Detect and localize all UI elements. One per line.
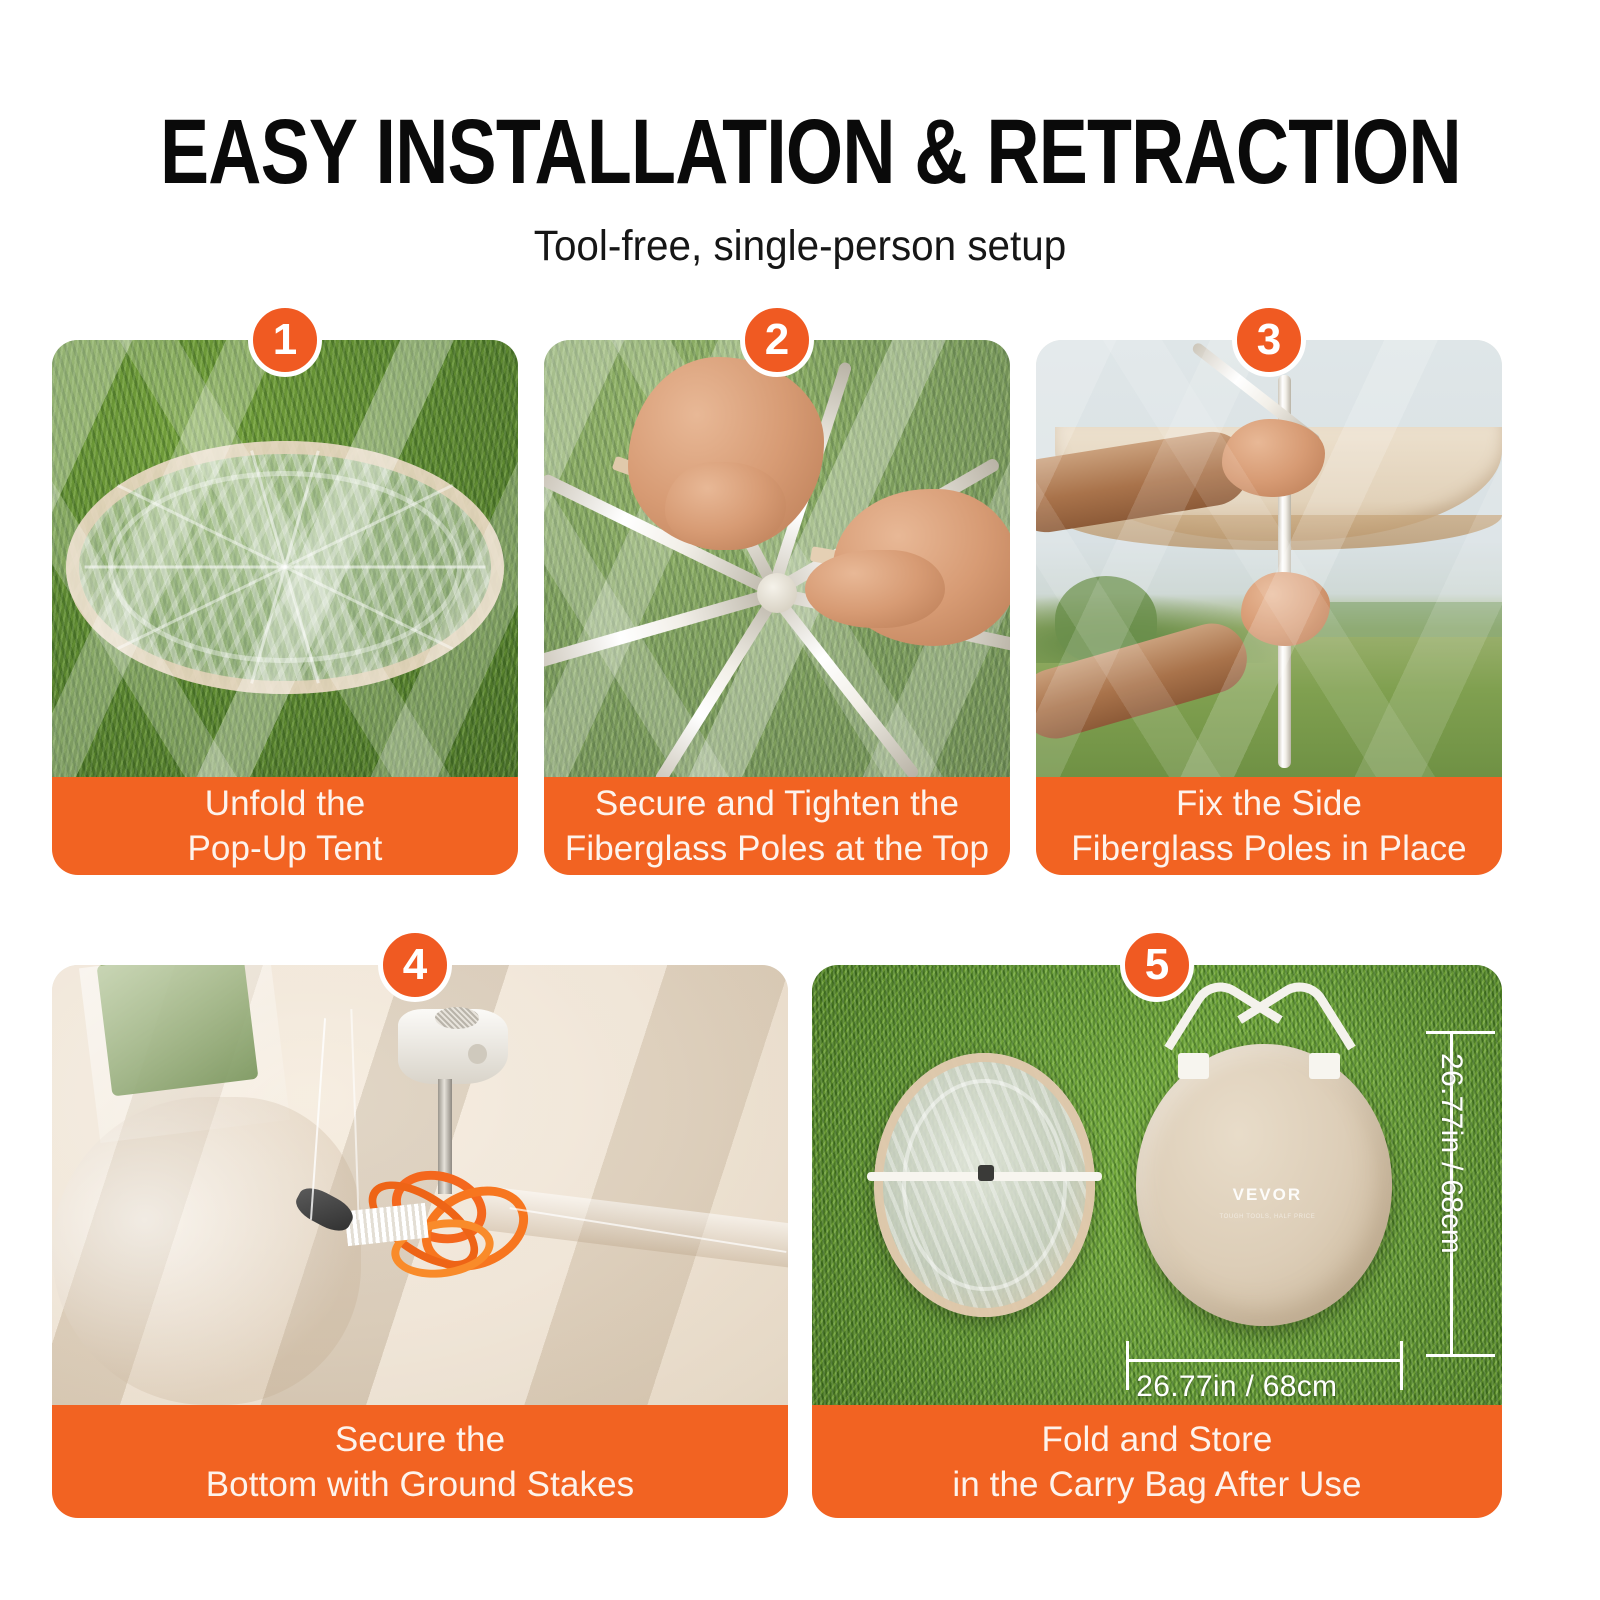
step-3-caption: Fix the Side Fiberglass Poles in Place <box>1036 777 1502 875</box>
step-2-photo <box>544 340 1010 777</box>
dimension-height-label: 26.77in / 68cm <box>1434 1053 1468 1254</box>
step-badge-4-number: 4 <box>403 943 427 987</box>
step-2-caption-line2: Fiberglass Poles at the Top <box>565 826 989 871</box>
header: EASY INSTALLATION & RETRACTION Tool-free… <box>0 0 1600 270</box>
step-badge-2: 2 <box>740 303 814 377</box>
step-3-caption-line1: Fix the Side <box>1176 781 1362 826</box>
step-card-1[interactable]: Unfold the Pop-Up Tent <box>52 340 518 875</box>
step-card-5[interactable]: VEVOR TOUGH TOOLS, HALF PRICE 26.77in / … <box>812 965 1502 1518</box>
step-4-caption-line2: Bottom with Ground Stakes <box>206 1462 635 1507</box>
dimension-width-label: 26.77in / 68cm <box>1136 1370 1337 1404</box>
dimension-cap-top <box>1426 1031 1495 1034</box>
step-4-caption-line1: Secure the <box>335 1417 505 1462</box>
step-badge-3-number: 3 <box>1257 318 1281 362</box>
dimension-cap-bottom <box>1426 1354 1495 1357</box>
step-badge-2-number: 2 <box>765 318 789 362</box>
step-badge-3: 3 <box>1232 303 1306 377</box>
step-5-caption: Fold and Store in the Carry Bag After Us… <box>812 1405 1502 1518</box>
vevor-tagline: TOUGH TOOLS, HALF PRICE <box>1192 1214 1344 1220</box>
step-4-caption: Secure the Bottom with Ground Stakes <box>52 1405 788 1518</box>
step-1-caption-line1: Unfold the <box>205 781 366 826</box>
page-title: EASY INSTALLATION & RETRACTION <box>160 104 1440 200</box>
vevor-logo: VEVOR <box>1192 1185 1344 1205</box>
step-1-photo <box>52 340 518 777</box>
step-5-caption-line1: Fold and Store <box>1042 1417 1273 1462</box>
dimension-cap-right <box>1400 1341 1403 1389</box>
step-card-2[interactable]: Secure and Tighten the Fiberglass Poles … <box>544 340 1010 875</box>
step-1-caption: Unfold the Pop-Up Tent <box>52 777 518 875</box>
step-1-caption-line2: Pop-Up Tent <box>187 826 382 871</box>
step-5-caption-line2: in the Carry Bag After Use <box>952 1462 1361 1507</box>
step-4-photo <box>52 965 788 1405</box>
dimension-line-horizontal <box>1126 1359 1402 1362</box>
step-badge-4: 4 <box>378 928 452 1002</box>
step-2-caption: Secure and Tighten the Fiberglass Poles … <box>544 777 1010 875</box>
step-card-4[interactable]: Secure the Bottom with Ground Stakes <box>52 965 788 1518</box>
step-2-caption-line1: Secure and Tighten the <box>595 781 959 826</box>
step-3-caption-line2: Fiberglass Poles in Place <box>1071 826 1466 871</box>
step-badge-5: 5 <box>1120 928 1194 1002</box>
step-badge-1: 1 <box>248 303 322 377</box>
step-badge-5-number: 5 <box>1145 943 1169 987</box>
page-subtitle: Tool-free, single-person setup <box>48 222 1552 270</box>
dimension-cap-left <box>1126 1341 1129 1389</box>
step-badge-1-number: 1 <box>273 318 297 362</box>
step-3-photo <box>1036 340 1502 777</box>
step-5-photo: VEVOR TOUGH TOOLS, HALF PRICE 26.77in / … <box>812 965 1502 1405</box>
step-card-3[interactable]: Fix the Side Fiberglass Poles in Place <box>1036 340 1502 875</box>
